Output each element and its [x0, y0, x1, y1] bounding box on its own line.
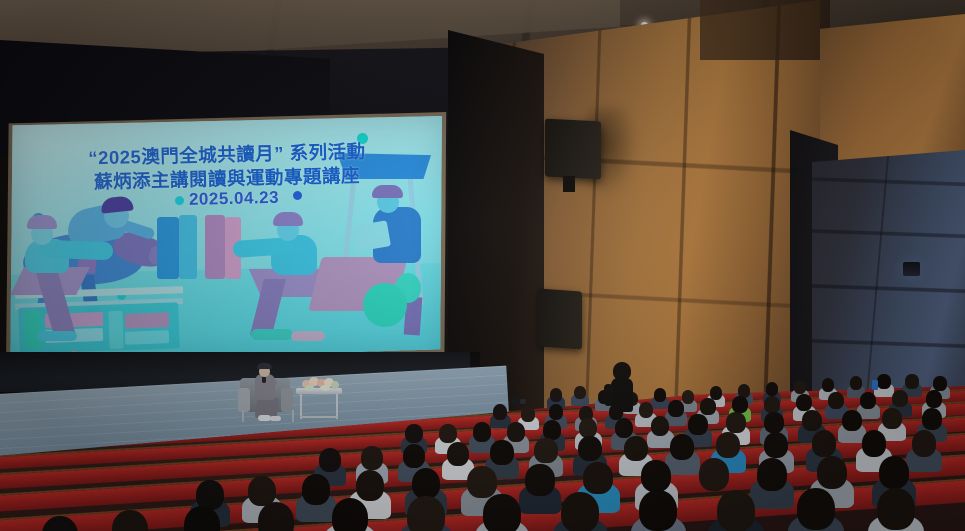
audience-member-head	[467, 466, 496, 498]
audience-member-head	[766, 382, 779, 396]
audience-member-head	[764, 432, 788, 458]
audience-member-head	[332, 498, 369, 531]
illustration-book	[205, 215, 225, 279]
audience-member-head	[578, 436, 602, 461]
audience-member-head	[550, 388, 562, 402]
illustration-figure-a-arm	[39, 240, 114, 261]
audience-member-head	[651, 416, 670, 436]
audience-member-head	[319, 448, 341, 472]
audience-member-head	[654, 388, 666, 402]
audience-member-head	[828, 392, 844, 409]
audience-member-head	[757, 458, 787, 491]
illustration-figure-a-cap	[27, 215, 57, 229]
audience-member-head	[933, 376, 946, 391]
audience-member-head	[525, 464, 554, 496]
speaker-shoe	[270, 416, 281, 421]
audience-member-head	[710, 386, 722, 400]
audience-member-head	[802, 410, 822, 431]
audience-member-head	[850, 376, 863, 390]
audience-member-head	[521, 406, 535, 422]
audience-member-head	[926, 390, 942, 408]
side-table-bar	[300, 416, 338, 418]
standing-staff-arm	[604, 384, 613, 406]
floral-arrangement	[300, 374, 340, 390]
illustration-figure-b-foot	[251, 329, 293, 340]
audience-member-head	[794, 380, 807, 394]
audience-member-head	[764, 396, 779, 413]
audience-member-head	[302, 474, 330, 505]
audience-member-head	[507, 422, 525, 442]
audience-member-head	[797, 488, 835, 530]
audience-member-head	[922, 408, 942, 430]
illustration-figure-b-cap	[273, 212, 303, 226]
audience-member-head	[882, 408, 902, 429]
audience-member-phone	[872, 380, 878, 390]
standing-staff-hair	[613, 362, 631, 380]
audience-member-head	[583, 462, 613, 494]
microphone	[262, 376, 266, 383]
audience-member-head	[639, 402, 654, 418]
audience-member-head	[699, 458, 729, 491]
audience-member-head	[796, 394, 812, 411]
camera-lens-icon	[520, 399, 526, 404]
audience-member-head	[490, 440, 513, 465]
slide-date-dot-icon	[175, 196, 184, 205]
audience-member-head	[447, 442, 470, 466]
illustration-figure-a-foot	[37, 331, 77, 341]
audience-member-head	[668, 400, 683, 417]
audience-member-head	[817, 456, 848, 489]
audience-member-head	[912, 430, 937, 457]
armchair-arm	[238, 388, 250, 412]
standing-staff-member	[611, 378, 633, 412]
audience-member-head	[615, 418, 634, 438]
armchair-arm	[281, 388, 293, 412]
audience-member-head	[877, 488, 916, 530]
audience-member-head	[842, 410, 862, 431]
audience-member-head	[688, 414, 707, 435]
wall-mounted-loudspeaker	[545, 119, 601, 180]
audience-member-head	[624, 436, 648, 461]
speaker-cap	[257, 363, 272, 369]
audience-member-head	[361, 446, 383, 470]
illustration-ball	[363, 283, 407, 327]
audience-member-head	[892, 390, 908, 407]
audience-member-head	[716, 432, 740, 458]
audience-member-head	[862, 430, 886, 457]
audience-member-head	[561, 492, 599, 531]
audience-member-head	[639, 490, 677, 531]
projection-screen: “2025澳門全城共讀月” 系列活動 蘇炳添主講閱讀與運動專題講座 2025.0…	[9, 115, 445, 363]
audience-member-head	[905, 374, 918, 389]
audience-member-head	[405, 424, 423, 443]
wall-mounted-loudspeaker-lower	[538, 288, 582, 349]
audience-member-head	[670, 434, 694, 460]
audience-member-head	[483, 494, 520, 531]
audience-member-head	[682, 390, 695, 404]
audience-member-head	[534, 438, 557, 463]
illustration-book	[157, 217, 179, 279]
audience-member-head	[822, 378, 835, 392]
audience-member-head	[439, 424, 457, 443]
audience-member-head	[726, 412, 745, 433]
audience-member-head	[764, 412, 783, 433]
audience-member-head	[700, 398, 715, 415]
audience-member-head	[403, 444, 426, 468]
audience-member-head	[356, 470, 385, 501]
audience-member-head	[877, 374, 890, 389]
audience-member-head	[732, 396, 747, 413]
audience-member-head	[493, 404, 507, 420]
audience-member-head	[812, 430, 836, 457]
audience-member-head	[473, 422, 491, 442]
audience-member-head	[543, 420, 561, 440]
auditorium-photo: “2025澳門全城共讀月” 系列活動 蘇炳添主講閱讀與運動專題講座 2025.0…	[0, 0, 965, 531]
wood-panel-upper	[700, 0, 830, 60]
slide-date-text: 2025.04.23	[189, 188, 280, 209]
audience-member-head	[641, 460, 671, 492]
audience-member-head	[717, 490, 755, 531]
audience-member-head	[407, 496, 444, 531]
loudspeaker-bracket	[563, 176, 575, 192]
audience-member-head	[879, 456, 910, 489]
audience-member-head	[574, 386, 586, 399]
illustration-figure-b-foot	[291, 331, 325, 341]
audience-member-head	[549, 404, 564, 420]
illustration-book	[179, 215, 197, 279]
audience-member-head	[860, 392, 876, 409]
wall-light-fixture	[903, 262, 920, 276]
audience-member-head	[412, 468, 441, 499]
